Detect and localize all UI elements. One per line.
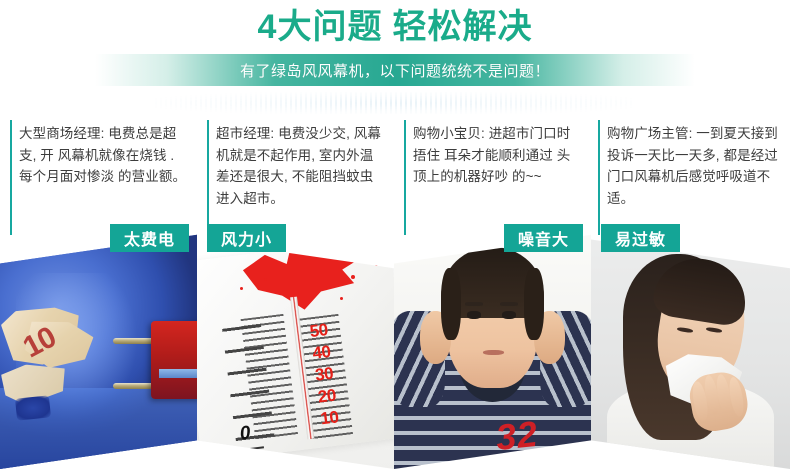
euro-stars-emblem	[15, 396, 51, 421]
eye	[502, 311, 516, 319]
splash-droplet	[340, 297, 343, 300]
page-title: 4大问题轻松解决	[0, 5, 790, 49]
problem-column-power-cost: 大型商场经理: 电费总是超支, 开 风幕机就像在烧钱 . 每个月面对惨淡 的营业…	[0, 112, 197, 469]
thermometer-photo: 50 40 30 20 10 0	[197, 230, 394, 469]
column-accent-rule	[10, 120, 12, 235]
thermometer-illustration: 50 40 30 20 10 0	[197, 230, 394, 469]
thermometer-scale-labels: 50 40 30 20 10	[309, 312, 394, 431]
boy-illustration: 32	[394, 230, 591, 469]
splash-droplet	[361, 244, 366, 249]
plug-pin-icon	[113, 338, 155, 344]
splash-droplet	[264, 278, 267, 281]
mouth	[483, 350, 505, 355]
shirt-number: 32	[494, 413, 540, 459]
column-accent-rule	[598, 120, 600, 235]
euro-plug-photo: 10	[0, 230, 197, 469]
problem-badge-power-cost[interactable]: 太费电	[110, 224, 189, 252]
eyebrow	[465, 302, 483, 306]
column-accent-rule	[404, 120, 406, 235]
problem-badge-weak-airflow[interactable]: 风力小	[207, 224, 286, 252]
customer-quote: 大型商场经理: 电费总是超支, 开 风幕机就像在烧钱 . 每个月面对惨淡 的营业…	[19, 123, 187, 188]
plug-pin-icon	[113, 383, 155, 389]
subtitle-banner: 有了绿岛风风幕机，以下问题统统不是问题！	[95, 54, 695, 86]
banner-header: 4大问题轻松解决 有了绿岛风风幕机，以下问题统统不是问题！	[0, 0, 790, 112]
hair-side	[441, 268, 461, 340]
woman-sneezing-illustration	[591, 230, 790, 469]
eye	[467, 311, 481, 319]
problem-column-weak-airflow: 超市经理: 电费没少交, 风幕 机就是不起作用, 室内外温差还是很大, 不能阻挡…	[197, 112, 394, 469]
subtitle-text: 有了绿岛风风幕机，以下问题统统不是问题！	[240, 60, 550, 81]
plug-body-icon	[151, 321, 197, 399]
plug-band	[159, 369, 197, 378]
customer-quote: 超市经理: 电费没少交, 风幕 机就是不起作用, 室内外温差还是很大, 不能阻挡…	[216, 123, 384, 209]
boy-covering-ears-photo: 32	[394, 230, 591, 469]
customer-quote: 购物小宝贝: 进超市门口时捂住 耳朵才能顺利通过 头顶上的机器好吵 的~~	[413, 123, 581, 188]
problem-badge-noise[interactable]: 噪音大	[504, 224, 583, 252]
eyebrow	[500, 302, 518, 306]
title-secondary: 轻松解决	[392, 8, 532, 46]
decorative-dotted-divider	[155, 92, 635, 114]
column-accent-rule	[207, 120, 209, 235]
woman-sneezing-photo	[591, 230, 790, 469]
title-primary: 4大问题	[258, 8, 383, 46]
euro-plug-illustration: 10	[0, 230, 197, 469]
problem-columns: 大型商场经理: 电费总是超支, 开 风幕机就像在烧钱 . 每个月面对惨淡 的营业…	[0, 112, 790, 469]
customer-quote: 购物广场主管: 一到夏天接到投诉一天比一天多, 都是经过门口风幕机后感觉呼吸道不…	[607, 123, 779, 209]
problem-column-allergy: 购物广场主管: 一到夏天接到投诉一天比一天多, 都是经过门口风幕机后感觉呼吸道不…	[591, 112, 790, 469]
promo-banner: 4大问题轻松解决 有了绿岛风风幕机，以下问题统统不是问题！ 大型商场经理: 电费…	[0, 0, 790, 469]
problem-badge-allergy[interactable]: 易过敏	[601, 224, 680, 252]
hair-side	[524, 268, 544, 340]
problem-column-noise: 购物小宝贝: 进超市门口时捂住 耳朵才能顺利通过 头顶上的机器好吵 的~~ 噪音…	[394, 112, 591, 469]
